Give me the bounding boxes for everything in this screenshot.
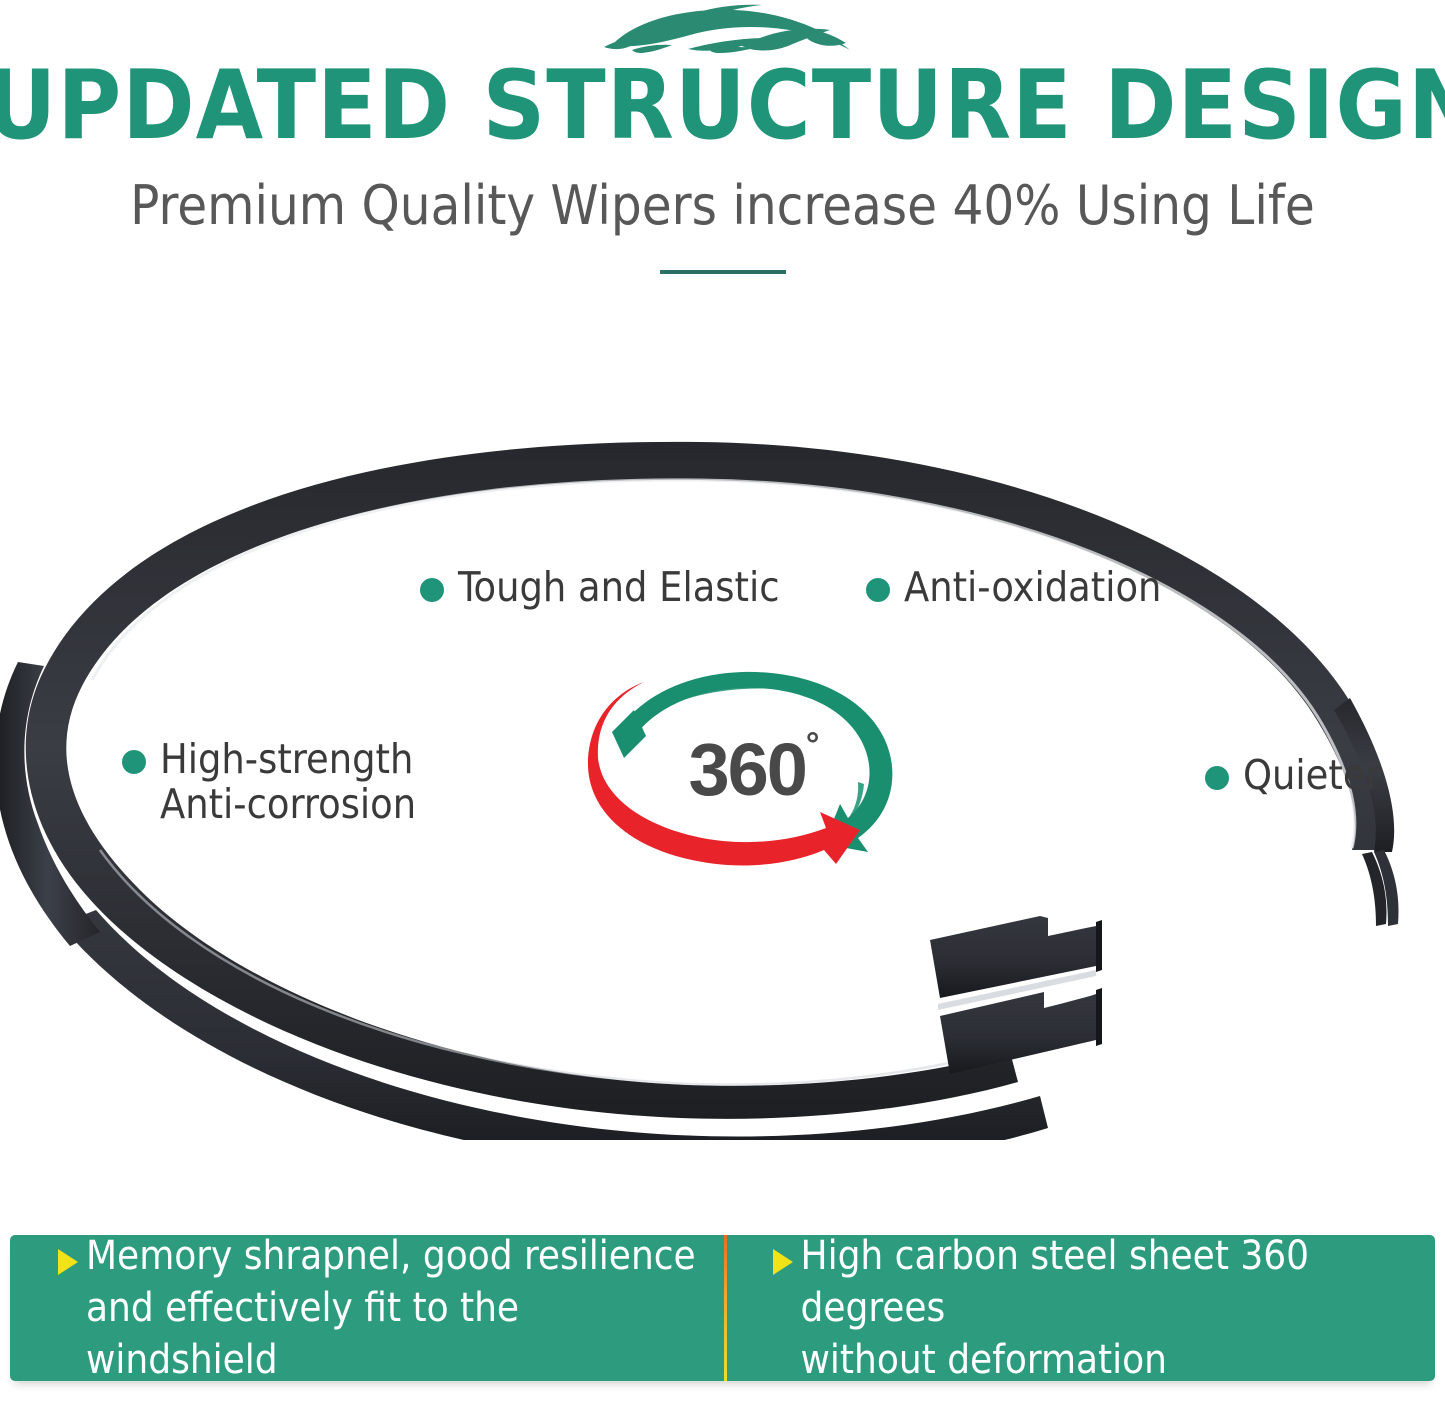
triangle-arrow-icon	[773, 1249, 793, 1275]
feature-tough-and-elastic: Tough and Elastic	[420, 565, 780, 610]
banner-left-text: Memory shrapnel, good resilience and eff…	[86, 1235, 721, 1381]
banner-right-text: High carbon steel sheet 360 degrees with…	[801, 1235, 1436, 1381]
banner-cell-left: Memory shrapnel, good resilience and eff…	[10, 1235, 721, 1381]
banner-cell-right: High carbon steel sheet 360 degrees with…	[721, 1235, 1436, 1381]
feature-label: High-strength Anti-corrosion	[160, 737, 416, 827]
feature-quieter: Quieter	[1205, 753, 1381, 798]
page-subtitle: Premium Quality Wipers increase 40% Usin…	[0, 176, 1445, 236]
title-divider	[660, 270, 786, 274]
bullet-icon	[122, 750, 146, 774]
bullet-icon	[1205, 766, 1229, 790]
feature-anti-oxidation: Anti-oxidation	[866, 565, 1161, 610]
bullet-icon	[420, 578, 444, 602]
banner-divider	[724, 1235, 727, 1381]
badge-360-label: 360°	[572, 662, 922, 877]
feature-label: Anti-oxidation	[904, 565, 1161, 610]
triangle-arrow-icon	[58, 1249, 78, 1275]
feature-label: Quieter	[1243, 753, 1381, 798]
badge-degree-symbol: °	[806, 726, 820, 765]
bullet-icon	[866, 578, 890, 602]
feature-label: Tough and Elastic	[458, 565, 780, 610]
page-title: UPDATED STRUCTURE DESIGN	[0, 60, 1445, 152]
feature-high-strength-anti-corrosion: High-strength Anti-corrosion	[122, 737, 416, 827]
strip-notches	[300, 858, 332, 966]
badge-360-value: 360	[688, 727, 805, 812]
bottom-feature-banner: Memory shrapnel, good resilience and eff…	[10, 1235, 1435, 1381]
badge-360-degrees: 360°	[572, 662, 922, 877]
